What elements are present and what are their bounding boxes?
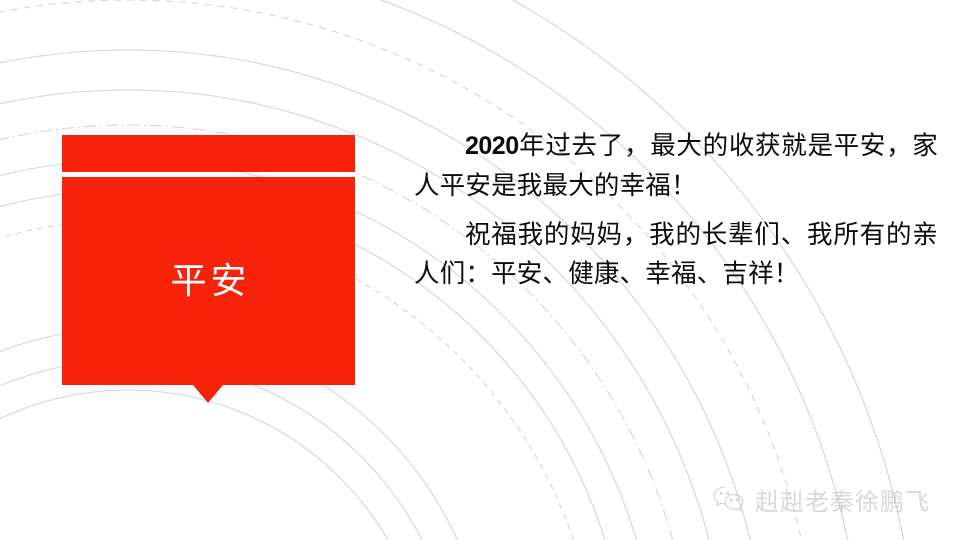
- paragraph-1-lead-number: 2020: [465, 132, 519, 160]
- callout-body: 平安: [62, 177, 355, 385]
- watermark-text: 赳赳老秦徐鹏飞: [755, 482, 930, 517]
- paragraph-2: 祝福我的妈妈，我的长辈们、我所有的亲人们：平安、健康、幸福、吉祥！: [414, 215, 938, 293]
- watermark: 赳赳老秦徐鹏飞: [712, 482, 930, 517]
- callout-top-bar: [62, 135, 355, 172]
- slide-canvas: 平安 2020年过去了，最大的收获就是平安，家人平安是我最大的幸福！ 祝福我的妈…: [0, 0, 960, 540]
- red-callout-block: 平安: [62, 135, 355, 403]
- paragraph-1: 2020年过去了，最大的收获就是平安，家人平安是我最大的幸福！: [414, 126, 938, 205]
- callout-label: 平安: [62, 177, 355, 385]
- paragraph-2-text: 祝福我的妈妈，我的长辈们、我所有的亲人们：平安、健康、幸福、吉祥！: [414, 220, 938, 288]
- callout-pointer-triangle: [193, 385, 223, 403]
- wechat-icon: [712, 485, 746, 514]
- arc-0: [0, 390, 428, 540]
- body-copy: 2020年过去了，最大的收获就是平安，家人平安是我最大的幸福！ 祝福我的妈妈，我…: [414, 126, 938, 293]
